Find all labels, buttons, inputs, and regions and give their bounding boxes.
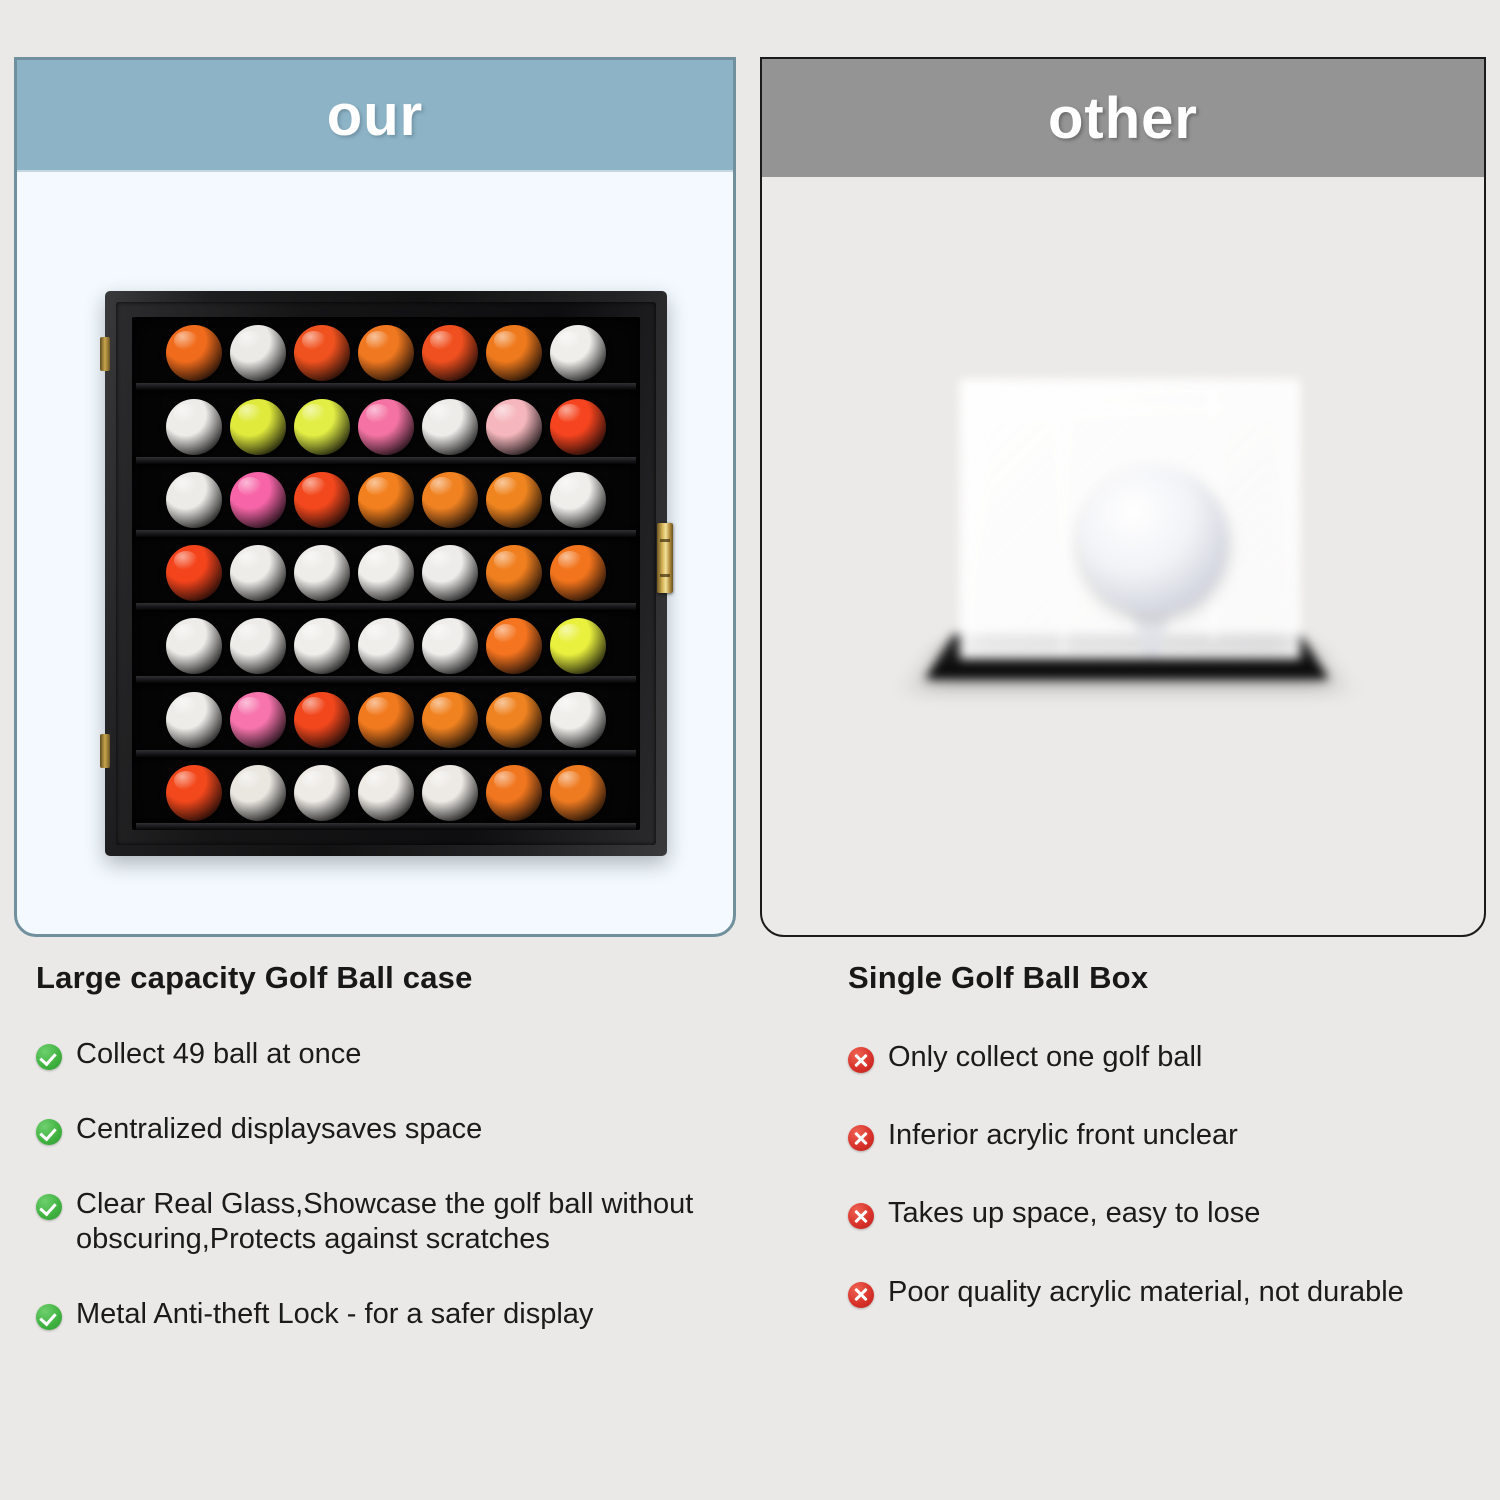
golf-ball <box>422 692 478 748</box>
comparison-panels: our other <box>0 0 1500 945</box>
golf-ball <box>230 399 286 455</box>
other-feature-list: Only collect one golf ball Inferior acry… <box>848 1040 1488 1309</box>
golf-ball <box>358 618 414 674</box>
case-glass-interior <box>132 317 640 830</box>
list-item: Poor quality acrylic material, not durab… <box>848 1275 1488 1309</box>
our-panel: our <box>14 57 736 937</box>
golf-ball <box>1080 467 1228 615</box>
golf-ball <box>230 545 286 601</box>
golf-ball <box>422 545 478 601</box>
golf-ball <box>550 692 606 748</box>
list-item-label: Poor quality acrylic material, not durab… <box>888 1275 1404 1309</box>
golf-ball <box>294 545 350 601</box>
x-icon <box>848 1125 874 1151</box>
case-shelf-row <box>132 537 640 610</box>
golf-ball <box>486 692 542 748</box>
golf-ball <box>294 325 350 381</box>
case-shelf-row <box>132 610 640 683</box>
case-latch-bottom <box>100 734 110 768</box>
other-panel: other <box>760 57 1486 937</box>
golf-ball <box>166 765 222 821</box>
list-item: Inferior acrylic front unclear <box>848 1118 1488 1152</box>
list-item-label: Collect 49 ball at once <box>76 1037 361 1071</box>
case-shelf <box>136 750 636 757</box>
golf-ball <box>486 399 542 455</box>
check-icon <box>36 1119 62 1145</box>
case-shelf <box>136 676 636 683</box>
golf-ball <box>422 399 478 455</box>
case-shelf <box>136 603 636 610</box>
golf-ball <box>230 472 286 528</box>
golf-ball <box>358 692 414 748</box>
check-icon <box>36 1194 62 1220</box>
list-item: Takes up space, easy to lose <box>848 1196 1488 1230</box>
golf-ball <box>422 618 478 674</box>
our-feature-column: Large capacity Golf Ball case Collect 49… <box>36 960 766 1331</box>
our-feature-heading: Large capacity Golf Ball case <box>36 960 766 996</box>
golf-ball <box>230 325 286 381</box>
other-panel-header: other <box>762 59 1484 177</box>
list-item: Centralized displaysaves space <box>36 1112 766 1146</box>
list-item-label: Takes up space, easy to lose <box>888 1196 1260 1230</box>
golf-ball <box>550 618 606 674</box>
list-item: Collect 49 ball at once <box>36 1037 766 1071</box>
golf-ball <box>358 399 414 455</box>
x-icon <box>848 1203 874 1229</box>
case-shelf-row <box>132 390 640 463</box>
feature-columns: Large capacity Golf Ball case Collect 49… <box>0 960 1500 1500</box>
list-item-label: Metal Anti-theft Lock - for a safer disp… <box>76 1297 593 1331</box>
golf-ball <box>230 765 286 821</box>
case-shelf-row <box>132 317 640 390</box>
golf-ball <box>166 325 222 381</box>
golf-ball <box>166 545 222 601</box>
golf-ball <box>486 325 542 381</box>
golf-ball <box>230 618 286 674</box>
golf-ball <box>550 325 606 381</box>
our-panel-header: our <box>17 60 733 172</box>
golf-ball <box>166 692 222 748</box>
case-latch-top <box>100 337 110 371</box>
check-icon <box>36 1044 62 1070</box>
list-item-label: Clear Real Glass,Showcase the golf ball … <box>76 1187 766 1255</box>
case-shelf <box>136 823 636 830</box>
golf-ball <box>422 325 478 381</box>
golf-ball <box>294 765 350 821</box>
golf-ball <box>486 545 542 601</box>
other-panel-body <box>762 177 1484 935</box>
list-item: Clear Real Glass,Showcase the golf ball … <box>36 1187 766 1255</box>
golf-ball <box>358 545 414 601</box>
other-feature-heading: Single Golf Ball Box <box>848 960 1488 996</box>
x-icon <box>848 1047 874 1073</box>
golf-ball <box>294 399 350 455</box>
other-feature-column: Single Golf Ball Box Only collect one go… <box>848 960 1488 1309</box>
other-panel-title: other <box>1048 85 1198 152</box>
single-acrylic-box-image <box>912 357 1342 737</box>
our-panel-body <box>17 172 733 934</box>
case-shelf-row <box>132 683 640 756</box>
golf-ball-display-case-image <box>105 291 667 856</box>
case-shelf <box>136 530 636 537</box>
case-shelf <box>136 383 636 390</box>
list-item-label: Only collect one golf ball <box>888 1040 1202 1074</box>
case-shelf <box>136 457 636 464</box>
golf-ball <box>166 618 222 674</box>
golf-ball <box>166 472 222 528</box>
golf-ball <box>230 692 286 748</box>
acrylic-edge-top <box>966 409 1262 412</box>
golf-ball <box>358 472 414 528</box>
golf-ball <box>294 692 350 748</box>
golf-ball <box>550 545 606 601</box>
golf-ball <box>550 472 606 528</box>
golf-ball <box>422 765 478 821</box>
golf-ball <box>550 399 606 455</box>
check-icon <box>36 1304 62 1330</box>
golf-ball <box>486 765 542 821</box>
golf-ball <box>358 325 414 381</box>
list-item-label: Centralized displaysaves space <box>76 1112 482 1146</box>
golf-ball <box>486 472 542 528</box>
golf-ball <box>550 765 606 821</box>
our-panel-title: our <box>327 82 423 149</box>
our-feature-list: Collect 49 ball at once Centralized disp… <box>36 1037 766 1331</box>
list-item: Only collect one golf ball <box>848 1040 1488 1074</box>
case-shelf-row <box>132 757 640 830</box>
golf-ball <box>166 399 222 455</box>
acrylic-edge-front <box>1062 387 1065 655</box>
list-item: Metal Anti-theft Lock - for a safer disp… <box>36 1297 766 1331</box>
case-shelf-row <box>132 464 640 537</box>
list-item-label: Inferior acrylic front unclear <box>888 1118 1238 1152</box>
brass-hinge-icon <box>657 523 673 593</box>
x-icon <box>848 1282 874 1308</box>
golf-ball <box>294 618 350 674</box>
golf-ball <box>422 472 478 528</box>
golf-ball <box>358 765 414 821</box>
golf-ball <box>294 472 350 528</box>
golf-ball <box>486 618 542 674</box>
